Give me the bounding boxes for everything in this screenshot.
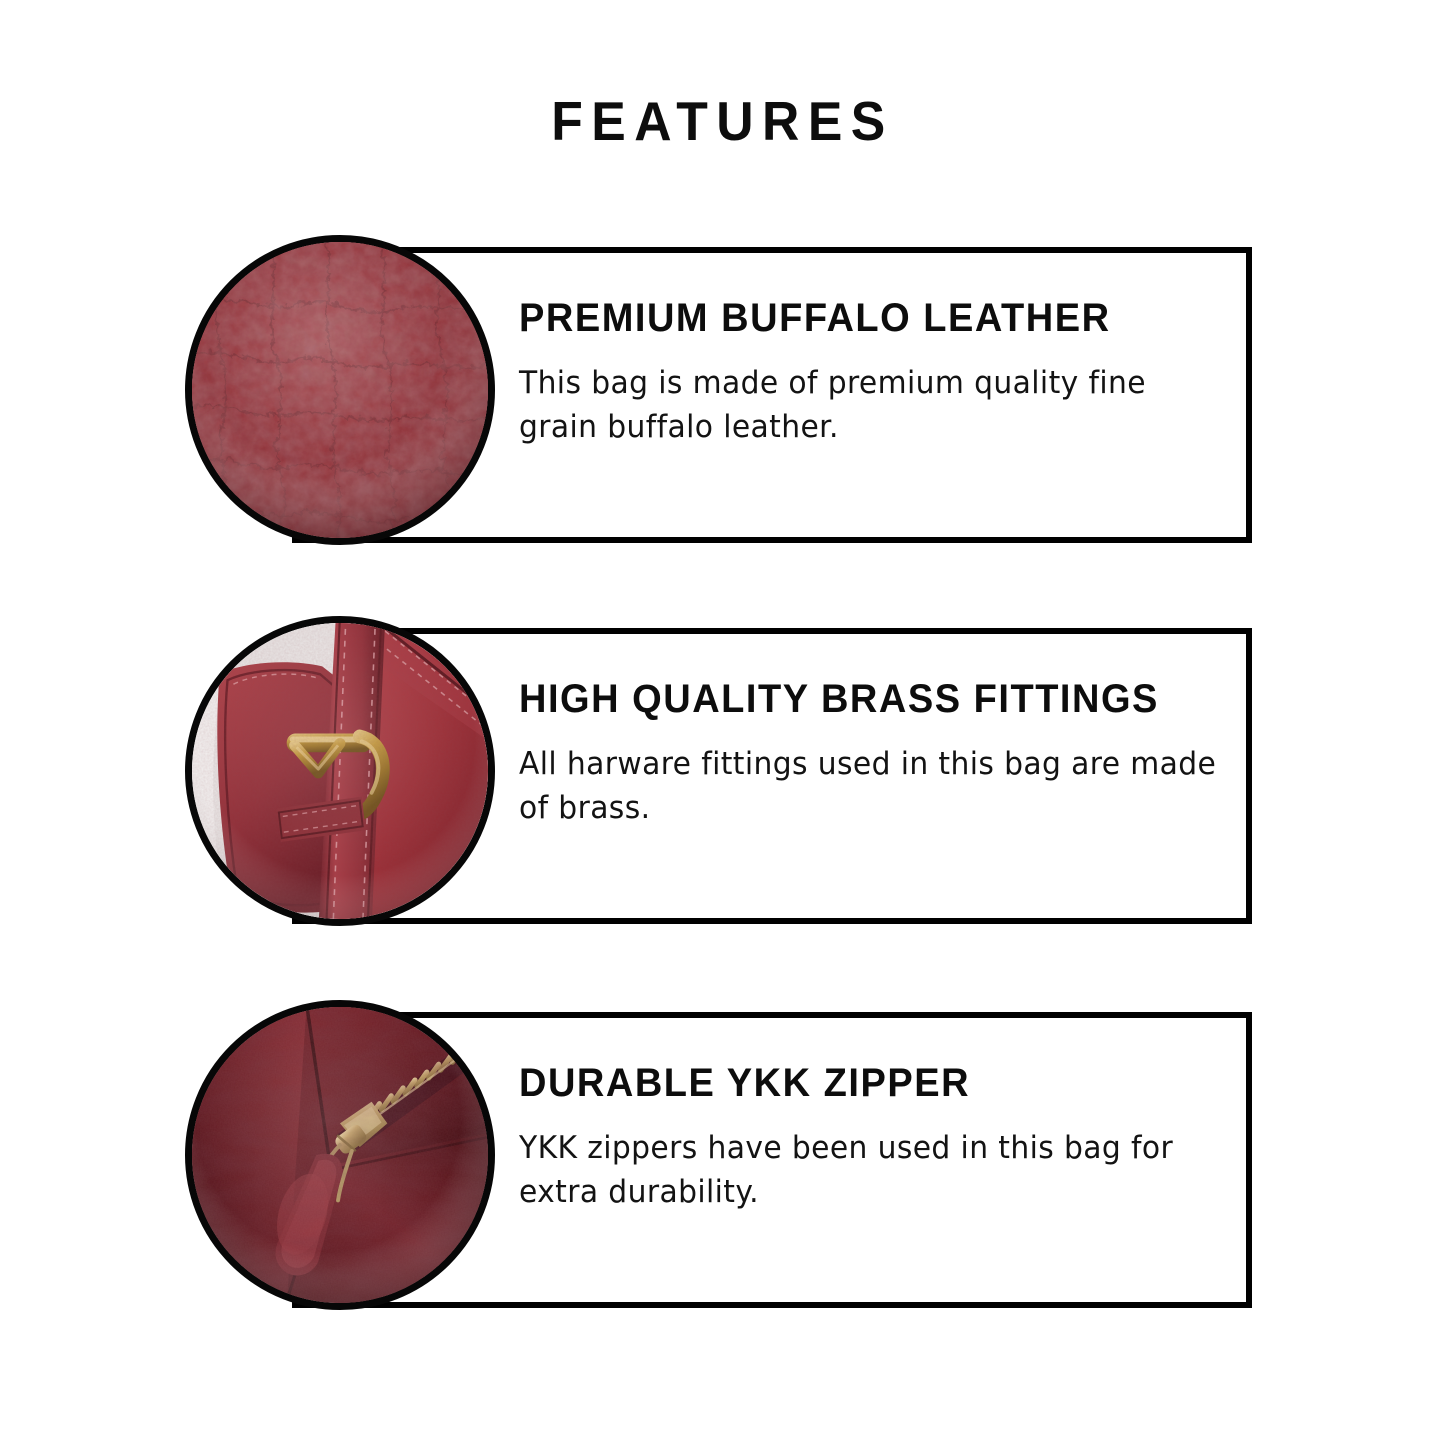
feature-text-block: HIGH QUALITY BRASS FITTINGS All harware … (519, 678, 1259, 830)
leather-texture-photo (185, 235, 495, 545)
page-title: FEATURES (43, 92, 1401, 150)
ykk-zipper-photo (185, 1000, 495, 1310)
feature-text-block: PREMIUM BUFFALO LEATHER This bag is made… (519, 297, 1259, 449)
feature-description: YKK zippers have been used in this bag f… (519, 1126, 1229, 1214)
feature-row-high-quality-brass-fittings: HIGH QUALITY BRASS FITTINGS All harware … (0, 616, 1445, 936)
brass-buckle-photo (185, 616, 495, 926)
feature-row-premium-buffalo-leather: PREMIUM BUFFALO LEATHER This bag is made… (0, 235, 1445, 555)
feature-row-durable-ykk-zipper: DURABLE YKK ZIPPER YKK zippers have been… (0, 1000, 1445, 1320)
feature-text-block: DURABLE YKK ZIPPER YKK zippers have been… (519, 1062, 1259, 1214)
feature-heading: HIGH QUALITY BRASS FITTINGS (519, 678, 1222, 720)
features-infographic: FEATURES PREMIUM BUFFALO LEATHER This ba… (0, 0, 1445, 1445)
feature-description: This bag is made of premium quality fine… (519, 361, 1229, 449)
feature-heading: DURABLE YKK ZIPPER (519, 1062, 1222, 1104)
feature-description: All harware fittings used in this bag ar… (519, 742, 1229, 830)
feature-heading: PREMIUM BUFFALO LEATHER (519, 297, 1222, 339)
